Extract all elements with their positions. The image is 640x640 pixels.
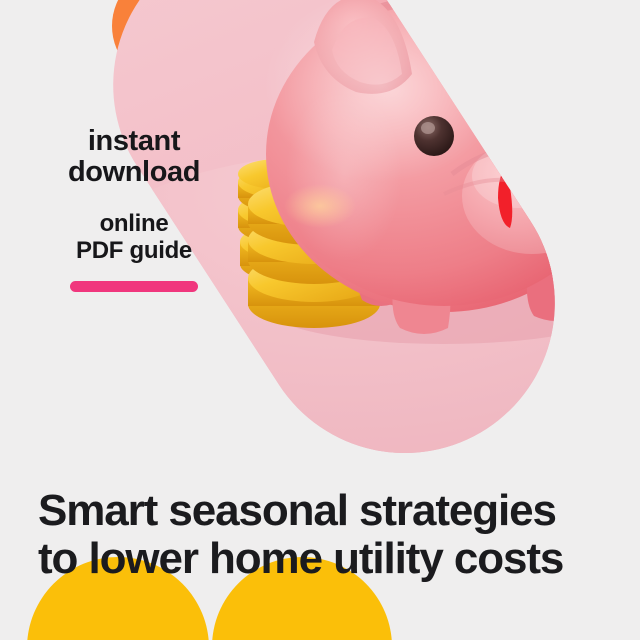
- pig-eye-right: [525, 103, 559, 141]
- headline: Smart seasonal strategies to lower home …: [38, 487, 608, 583]
- headline-line-1: Smart seasonal strategies: [38, 487, 608, 535]
- kicker-line-2: download: [0, 157, 268, 188]
- pig-nostril-right: [554, 160, 570, 220]
- subkicker-text-block: online PDF guide: [0, 210, 268, 264]
- headline-line-2: to lower home utility costs: [38, 535, 608, 583]
- subkicker-line-1: online: [0, 210, 268, 237]
- poster-canvas: $ $: [0, 0, 640, 640]
- pig-eye-left: [414, 116, 454, 156]
- subkicker-line-2: PDF guide: [0, 237, 268, 264]
- kicker-line-1: instant: [0, 126, 268, 157]
- kicker-text-block: instant download: [0, 126, 268, 188]
- accent-bar: [70, 281, 198, 292]
- pig-ear-right: [484, 0, 584, 88]
